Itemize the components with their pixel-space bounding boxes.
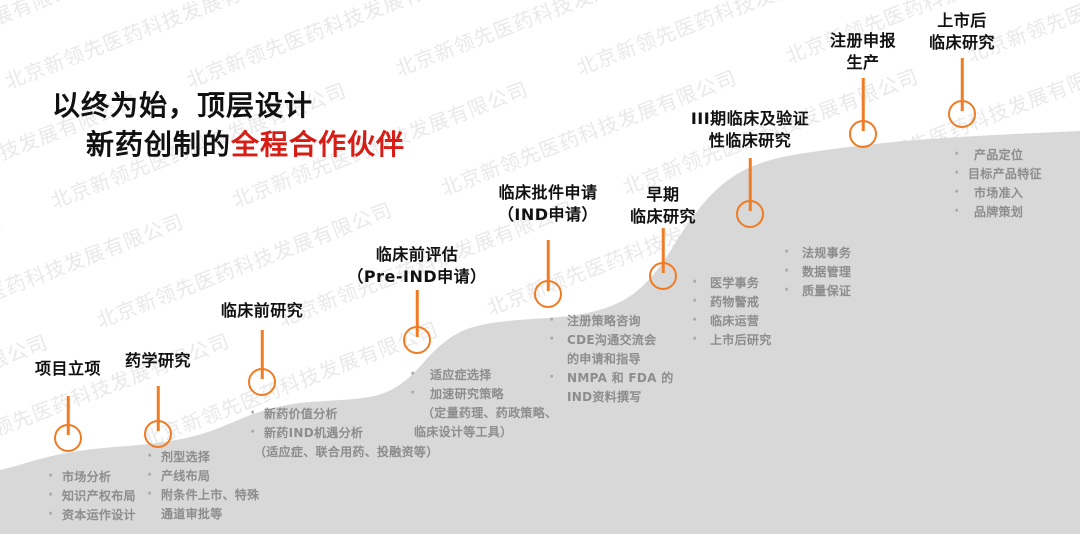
bullet-item: 市场准入	[952, 184, 1042, 203]
stage-title-preclinical-research: 临床前研究	[221, 300, 304, 322]
stage-bullets-project-initiation: 市场分析 知识产权布局 资本运作设计	[46, 468, 136, 525]
bullet-item: 药物警戒	[690, 293, 772, 312]
bullet-item: 医学事务	[690, 274, 772, 293]
stage-title-ind-application: 临床批件申请 （IND申请）	[498, 182, 598, 226]
stage-title-registration-production: 注册申报 生产	[830, 30, 896, 74]
bullet-item: 数据管理	[782, 263, 851, 282]
stage-ring-icon	[534, 280, 562, 308]
slide-canvas: 北京新领先医药科技发展有限公司北京新领先医药科技发展有限公司北京新领先医药科技发…	[0, 0, 1080, 534]
bullet-item: （定量药理、药政策略、	[408, 404, 557, 423]
bullet-item: 产品定位	[952, 146, 1042, 165]
bullet-item: 通道审批等	[145, 505, 259, 524]
stage-marker-post-market-clinical[interactable]	[948, 58, 976, 128]
headline: 以终为始，顶层设计 新药创制的全程合作伙伴	[52, 86, 405, 164]
stage-marker-early-clinical-research[interactable]	[649, 228, 677, 290]
stage-marker-pharmaceutical-research[interactable]	[144, 386, 172, 448]
stage-title-phase3-confirmatory: III期临床及验证 性临床研究	[691, 108, 809, 152]
bullet-item: IND资料撰写	[547, 388, 674, 407]
bullet-item: 加速研究策略	[408, 385, 557, 404]
bullet-item: CDE沟通交流会	[547, 331, 674, 350]
stage-ring-icon	[403, 326, 431, 354]
stage-bullets-phase3-confirmatory: 法规事务 数据管理 质量保证	[782, 244, 851, 301]
bullet-item: （适应症、联合用药、投融资等）	[238, 443, 439, 462]
stage-marker-project-initiation[interactable]	[54, 396, 82, 452]
stage-marker-phase3-confirmatory[interactable]	[736, 158, 764, 228]
stage-marker-registration-production[interactable]	[849, 78, 877, 148]
stage-title-pharmaceutical-research: 药学研究	[125, 350, 191, 372]
stage-marker-preclinical-assessment[interactable]	[403, 290, 431, 354]
bullet-item: 产线布局	[145, 467, 259, 486]
headline-line-2: 新药创制的全程合作伙伴	[52, 125, 405, 164]
stage-bullets-early-clinical-research: 医学事务 药物警戒 临床运营 上市后研究	[690, 274, 772, 350]
stage-marker-preclinical-research[interactable]	[248, 330, 276, 396]
stage-ring-icon	[144, 420, 172, 448]
bullet-item: 目标产品特征	[952, 165, 1042, 184]
headline-line-2-prefix: 新药创制的	[86, 128, 231, 161]
bullet-item: 市场分析	[46, 468, 136, 487]
stage-ring-icon	[649, 262, 677, 290]
bullet-item: 附条件上市、特殊	[145, 486, 259, 505]
bullet-item: 知识产权布局	[46, 487, 136, 506]
bullet-item: 品牌策划	[952, 203, 1042, 222]
bullet-item: 注册策略咨询	[547, 312, 674, 331]
bullet-item: 适应症选择	[408, 366, 557, 385]
stage-title-early-clinical-research: 早期 临床研究	[630, 184, 696, 228]
bullet-item: 上市后研究	[690, 331, 772, 350]
stage-title-project-initiation: 项目立项	[35, 358, 101, 380]
bullet-item: 的申请和指导	[547, 350, 674, 369]
stage-ring-icon	[248, 368, 276, 396]
bullet-item: NMPA 和 FDA 的	[547, 369, 674, 388]
stage-title-post-market-clinical: 上市后 临床研究	[929, 10, 995, 54]
bullet-item: 法规事务	[782, 244, 851, 263]
stage-ring-icon	[948, 100, 976, 128]
bullet-item: 临床运营	[690, 312, 772, 331]
stage-bullets-post-market-clinical: 产品定位 目标产品特征 市场准入 品牌策划	[952, 146, 1042, 222]
stage-ring-icon	[849, 120, 877, 148]
bullet-item: 质量保证	[782, 282, 851, 301]
stage-marker-ind-application[interactable]	[534, 240, 562, 308]
stage-bullets-ind-application: 注册策略咨询 CDE沟通交流会 的申请和指导 NMPA 和 FDA 的 IND资…	[547, 312, 674, 407]
headline-line-2-accent: 全程合作伙伴	[231, 128, 405, 161]
bullet-item: 资本运作设计	[46, 506, 136, 525]
bullet-item: 临床设计等工具）	[408, 423, 557, 442]
stage-bullets-preclinical-assessment: 适应症选择 加速研究策略 （定量药理、药政策略、 临床设计等工具）	[408, 366, 557, 442]
stage-ring-icon	[54, 424, 82, 452]
stage-title-preclinical-assessment: 临床前评估 （Pre-IND申请）	[347, 244, 486, 288]
stage-ring-icon	[736, 200, 764, 228]
headline-line-1: 以终为始，顶层设计	[52, 86, 405, 125]
